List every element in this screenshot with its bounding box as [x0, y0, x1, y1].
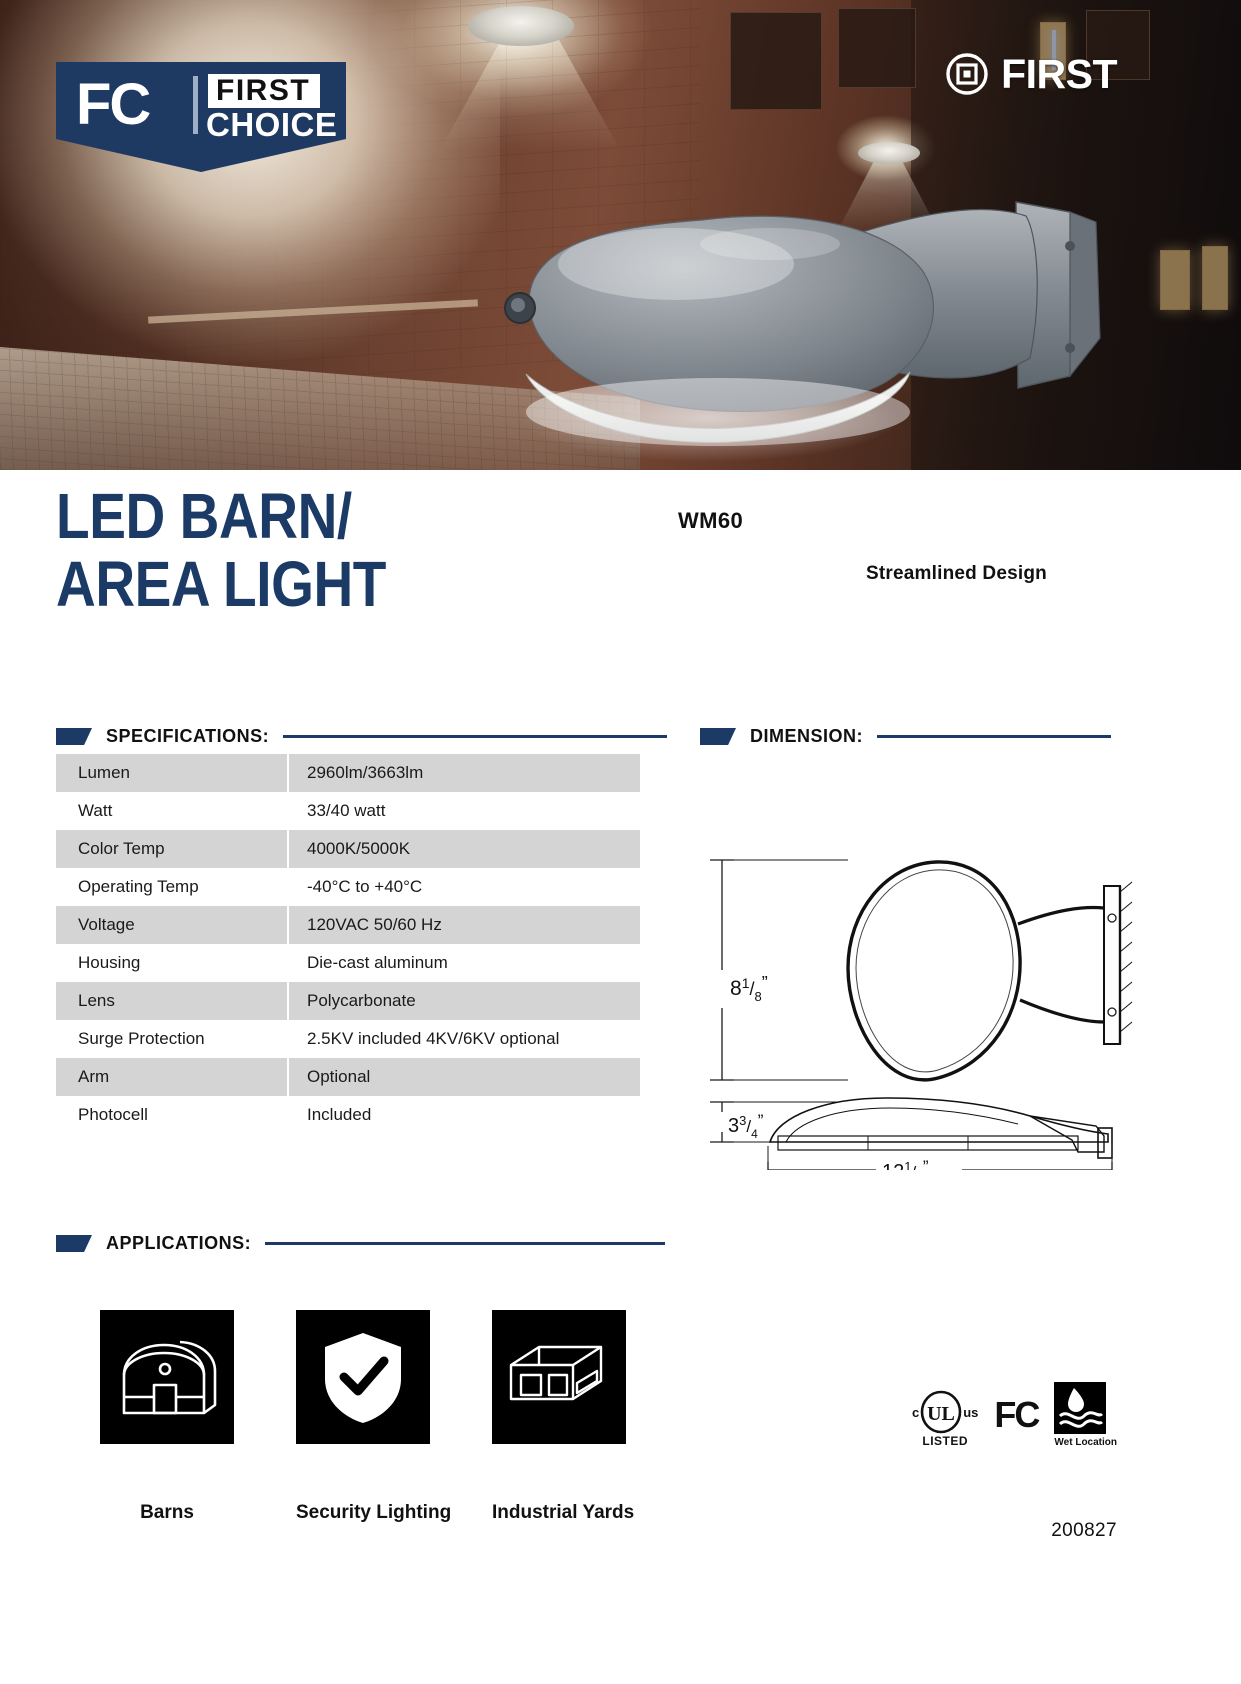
spec-key: Color Temp [56, 830, 288, 868]
application-item-industrial-yards: Industrial Yards [492, 1310, 626, 1524]
table-row: HousingDie-cast aluminum [56, 944, 640, 982]
spec-value: Polycarbonate [288, 982, 640, 1020]
applications-header: APPLICATIONS: [56, 1233, 696, 1254]
document-code: 200827 [1051, 1520, 1117, 1542]
spec-value: Optional [288, 1058, 640, 1096]
spec-key: Arm [56, 1058, 288, 1096]
applications-label: APPLICATIONS: [106, 1233, 251, 1254]
building-window [838, 8, 916, 88]
section-rule [283, 735, 667, 738]
wet-location-icon [1054, 1382, 1106, 1434]
section-rule [877, 735, 1111, 738]
spec-key: Voltage [56, 906, 288, 944]
application-tile [296, 1310, 430, 1444]
ul-mark-row: c UL us [912, 1390, 978, 1434]
wet-location-glyph [1054, 1382, 1106, 1434]
page-title: LED BARN/ AREA LIGHT [56, 482, 386, 618]
logo-divider [193, 76, 198, 134]
photo-lamp-fixture [468, 6, 574, 46]
title-line-1: LED BARN/ [56, 482, 386, 550]
spec-value: 120VAC 50/60 Hz [288, 906, 640, 944]
application-item-barns: Barns [100, 1310, 234, 1524]
dimension-width-label: 121/8” [882, 1157, 929, 1170]
warehouse-icon [505, 1335, 613, 1419]
table-row: LensPolycarbonate [56, 982, 640, 1020]
specifications-label: SPECIFICATIONS: [106, 726, 269, 747]
hero-product-photo: FC FIRST CHOICE FIRST [0, 0, 1241, 470]
table-row: Operating Temp-40°C to +40°C [56, 868, 640, 906]
building-window-lit [1160, 250, 1190, 310]
spec-value: 2.5KV included 4KV/6KV optional [288, 1020, 640, 1058]
section-rule [265, 1242, 665, 1245]
first-wordmark: FIRST [1001, 54, 1117, 95]
applications-list: Barns Security Lighting [100, 1310, 626, 1524]
ul-prefix: c [912, 1405, 919, 1420]
fc-first-word: FIRST [208, 74, 320, 108]
ul-circle-icon: UL [919, 1390, 963, 1434]
dimension-svg: 81/8” 33/4” 121/8” [700, 840, 1160, 1170]
spec-value: 2960lm/3663lm [288, 754, 640, 792]
spec-key: Surge Protection [56, 1020, 288, 1058]
application-label: Industrial Yards [492, 1502, 626, 1524]
application-label: Barns [100, 1502, 234, 1524]
spec-value: Die-cast aluminum [288, 944, 640, 982]
table-row: Color Temp4000K/5000K [56, 830, 640, 868]
application-item-security-lighting: Security Lighting [296, 1310, 430, 1524]
fc-choice-word: CHOICE [206, 108, 337, 142]
title-line-2: AREA LIGHT [56, 550, 386, 618]
model-number: WM60 [678, 508, 743, 534]
square-in-circle-icon [945, 52, 989, 96]
dimension-depth-label: 33/4” [728, 1111, 764, 1141]
specifications-table-body: Lumen2960lm/3663lm Watt33/40 watt Color … [56, 754, 640, 1134]
spec-key: Operating Temp [56, 868, 288, 906]
spec-key: Photocell [56, 1096, 288, 1134]
fcc-label: FC [994, 1394, 1038, 1435]
application-tile [100, 1310, 234, 1444]
wet-location-label: Wet Location [1054, 1437, 1117, 1448]
ul-suffix: us [963, 1405, 978, 1420]
fc-initials: FC [76, 76, 149, 134]
section-flag-icon [56, 1235, 92, 1252]
spec-key: Lumen [56, 754, 288, 792]
spec-key: Housing [56, 944, 288, 982]
svg-text:UL: UL [927, 1403, 955, 1425]
first-corporate-logo: FIRST [945, 52, 1117, 96]
certifications-row: c UL us LISTED FC Wet Location [912, 1382, 1117, 1448]
ul-listed-mark: c UL us LISTED [912, 1390, 978, 1448]
building-window-lit [1202, 246, 1228, 310]
spec-key: Lens [56, 982, 288, 1020]
product-tagline: Streamlined Design [866, 563, 1047, 585]
spec-value: -40°C to +40°C [288, 868, 640, 906]
dimension-height-label: 81/8” [730, 973, 768, 1004]
shield-check-icon [317, 1327, 409, 1427]
table-row: ArmOptional [56, 1058, 640, 1096]
ul-listed-caption: LISTED [912, 1434, 978, 1448]
table-row: Voltage120VAC 50/60 Hz [56, 906, 640, 944]
section-flag-icon [56, 728, 92, 745]
application-label: Security Lighting [296, 1502, 430, 1524]
dimension-header: DIMENSION: [700, 726, 1120, 747]
datasheet-page: FC FIRST CHOICE FIRST LED BARN/ AREA LIG… [0, 0, 1241, 1684]
specifications-table: Lumen2960lm/3663lm Watt33/40 watt Color … [56, 754, 640, 1134]
table-row: Watt33/40 watt [56, 792, 640, 830]
table-row: Surge Protection2.5KV included 4KV/6KV o… [56, 1020, 640, 1058]
spec-value: Included [288, 1096, 640, 1134]
spec-key: Watt [56, 792, 288, 830]
spec-value: 33/40 watt [288, 792, 640, 830]
barn-icon [114, 1331, 220, 1423]
application-tile [492, 1310, 626, 1444]
specifications-header: SPECIFICATIONS: [56, 726, 672, 747]
fcc-mark: FC [994, 1394, 1038, 1448]
table-row: Lumen2960lm/3663lm [56, 754, 640, 792]
building-window [730, 12, 822, 110]
dimension-label: DIMENSION: [750, 726, 863, 747]
section-flag-icon [700, 728, 736, 745]
table-row: PhotocellIncluded [56, 1096, 640, 1134]
spec-value: 4000K/5000K [288, 830, 640, 868]
product-fixture-image [470, 160, 1110, 470]
dimension-drawing: 81/8” 33/4” 121/8” [700, 840, 1160, 1170]
wet-location-mark: Wet Location [1054, 1382, 1117, 1448]
